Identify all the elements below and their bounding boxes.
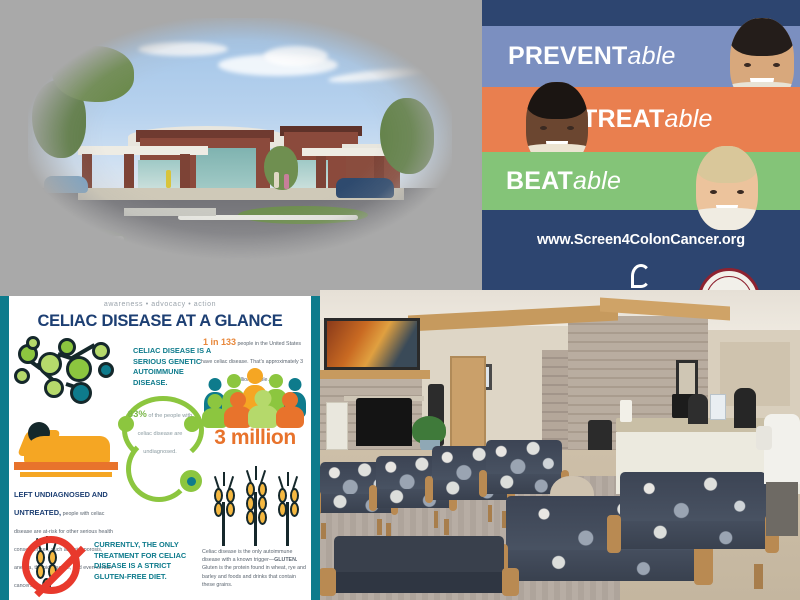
eyes [696, 190, 758, 193]
wheat-grain [246, 482, 255, 497]
wheat-grain [290, 488, 299, 503]
chair-leg [754, 564, 763, 588]
chair-arm [479, 470, 487, 496]
shoulders [696, 208, 758, 230]
person-head [247, 368, 263, 384]
building-rendering-panel [0, 0, 480, 290]
no-gluten-icon [18, 534, 92, 596]
molecule-node [44, 378, 64, 398]
walkway [124, 208, 216, 216]
waiting-chair-foreground-dark [334, 536, 504, 600]
stethoscope-bell [180, 470, 202, 492]
molecule-node [58, 338, 76, 356]
waiting-room-panel [320, 290, 800, 600]
chair-leg [444, 519, 448, 536]
staff-person [688, 394, 708, 424]
staff-pants [766, 482, 798, 536]
person-head [289, 378, 302, 391]
cloud-icon [138, 42, 228, 56]
stat-83-percent: 83% of the people with celiac disease ar… [124, 404, 196, 458]
eye [567, 126, 574, 130]
sanitizer-dispenser [620, 400, 632, 422]
wheat-grain [226, 488, 235, 503]
wheat-grain [258, 482, 267, 497]
wheat-icon [206, 470, 306, 546]
chair-back [334, 536, 504, 577]
wheat-grain [258, 510, 267, 525]
banner-website-url[interactable]: www.Screen4ColonCancer.org [482, 232, 800, 248]
gluten-statement: Celiac disease is the only autoimmune di… [202, 548, 306, 589]
waiting-chair-foreground [620, 472, 766, 566]
wheat-grain [214, 488, 223, 503]
infographic-tagline: awareness • advocacy • action [0, 301, 320, 308]
stripe-label-treatable: TREATable [582, 105, 713, 134]
molecule-node [70, 382, 92, 404]
molecule-icon [14, 334, 132, 410]
chair-leg [488, 505, 493, 522]
eye [773, 63, 780, 67]
wood-door [450, 356, 486, 452]
staff-bag [756, 426, 772, 450]
floor-sign [326, 402, 348, 450]
wall-mounted-tv [324, 318, 420, 370]
stat-three-million: 3 million [200, 426, 310, 450]
wheat-grain [246, 496, 255, 511]
portrait-woman-2 [696, 146, 758, 230]
infographic-title: CELIAC DISEASE AT A GLANCE [0, 312, 320, 331]
person-body [248, 405, 278, 428]
hospital-bed-icon [14, 418, 118, 480]
hair [696, 146, 758, 183]
chair-seat [324, 572, 514, 593]
chair-leg [321, 523, 325, 539]
bed-mattress [24, 436, 110, 464]
person-icon [166, 170, 171, 188]
wheat-awn [287, 472, 289, 486]
gluten-body-2: Gluten is the protein found in wheat, ry… [202, 565, 306, 587]
swoosh-icon [631, 264, 651, 288]
tree-icon [264, 146, 298, 190]
molecule-node [66, 356, 92, 382]
building-rendering-image [28, 18, 452, 266]
chair-arm [607, 515, 622, 553]
image-collage: PREVENTable TREATable BEATable [0, 0, 800, 600]
tree-icon [380, 98, 434, 174]
molecule-node [98, 362, 114, 378]
chair-back [620, 472, 766, 527]
wheat-grain [226, 502, 235, 517]
celiac-infographic-panel: awareness • advocacy • action CELIAC DIS… [0, 290, 320, 600]
wheat-grain [278, 488, 287, 503]
person-head [209, 378, 222, 391]
seal-logo-icon [698, 268, 760, 290]
wheat-grain [258, 496, 267, 511]
fireplace-firebox [356, 398, 412, 446]
person-head [269, 374, 283, 388]
prohibition-slash [34, 546, 86, 598]
wheat-grain [290, 502, 299, 517]
eye [540, 126, 547, 130]
chair-seat [611, 521, 775, 549]
chair-arm [320, 568, 336, 596]
person-icon [284, 174, 289, 189]
eye [744, 63, 751, 67]
hair [730, 18, 794, 56]
staff-person [734, 388, 756, 428]
molecule-node [92, 342, 110, 360]
people-group-icon [202, 368, 306, 428]
eyes [730, 63, 794, 66]
wheat-awn [255, 466, 257, 480]
molecule-node [38, 352, 62, 376]
person-figure [276, 392, 304, 428]
car-icon [44, 176, 88, 193]
tree-icon [52, 46, 134, 102]
fireplace-mantle [320, 370, 430, 379]
molecule-node [26, 336, 40, 350]
hair [526, 82, 588, 119]
cloud-icon [264, 46, 328, 66]
bed-base [20, 472, 112, 477]
person-icon [274, 172, 279, 188]
colon-cancer-banner-panel: PREVENTable TREATable BEATable [482, 0, 800, 290]
treatment-statement: CURRENTLY, THE ONLY TREATMENT FOR CELIAC… [94, 540, 198, 583]
chair-leg [434, 511, 439, 528]
chair-back [486, 440, 562, 478]
eyes [526, 126, 588, 129]
gluten-bold: GLUTEN. [274, 557, 297, 563]
bed-frame [14, 462, 118, 470]
brochure-display [710, 394, 726, 420]
infographic-left-border [0, 296, 9, 600]
eye [737, 190, 744, 194]
infographic-right-border [311, 296, 320, 600]
wheat-awn [223, 472, 225, 486]
stat-133-headline: 1 in 133 [203, 337, 236, 347]
chair-arm [425, 476, 433, 502]
chair-arm [320, 491, 321, 516]
eye [710, 190, 717, 194]
prohibition-circle [22, 536, 80, 594]
car-icon [336, 178, 394, 198]
molecule-node [14, 368, 30, 384]
standing-staff-member [764, 386, 800, 536]
stripe-label-preventable: PREVENTable [508, 42, 676, 71]
stripe-label-beatable: BEATable [506, 167, 621, 196]
chair-leg [377, 519, 381, 536]
person-figure [248, 390, 278, 428]
chair-arm [369, 485, 376, 511]
wheat-grain [278, 502, 287, 517]
cloud-icon [328, 65, 428, 85]
person-body [276, 406, 304, 428]
stat-83-headline: 83% [128, 409, 147, 420]
chair-arm [502, 568, 519, 596]
banner-logo-area [482, 262, 800, 290]
wheat-grain [246, 510, 255, 525]
wheat-grain [214, 502, 223, 517]
person-head [227, 374, 241, 388]
